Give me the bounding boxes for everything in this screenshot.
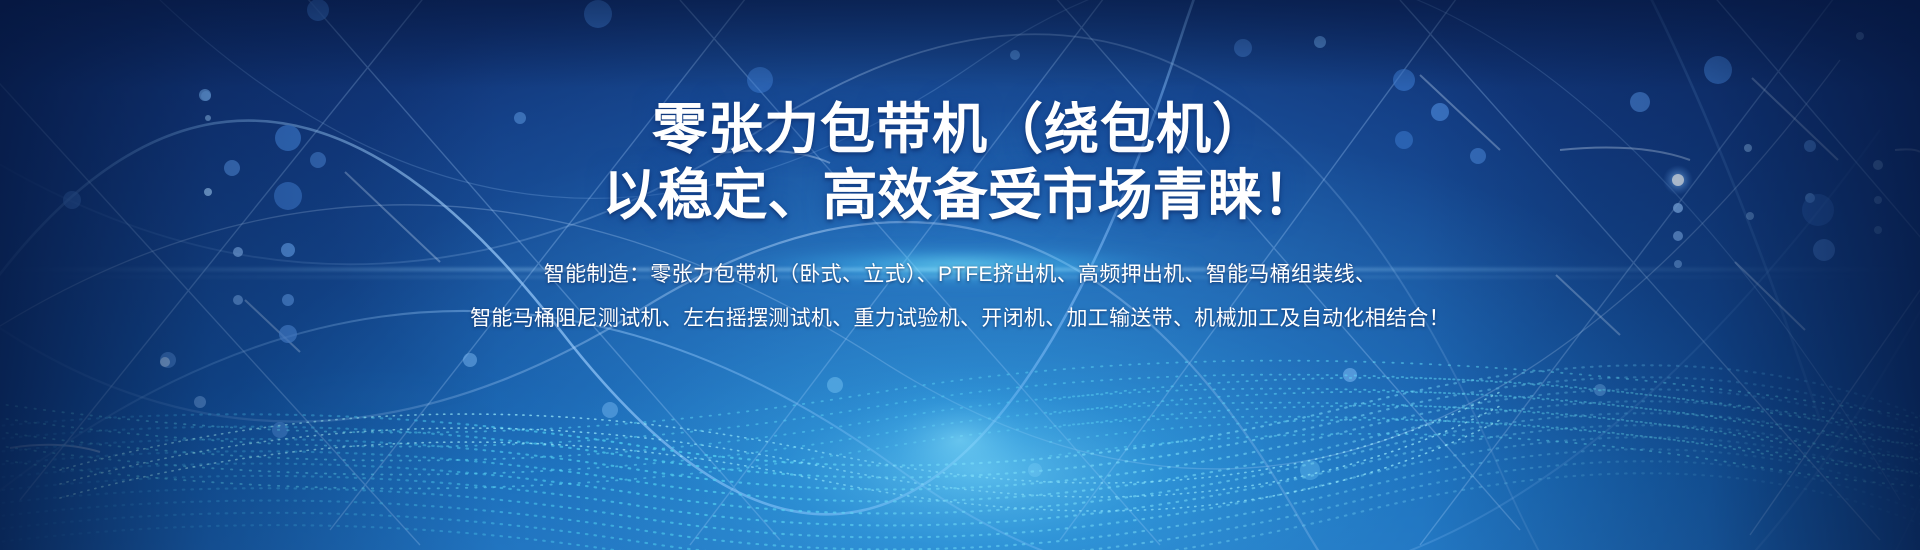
headline-line-2: 以稳定、高效备受市场青睐！ xyxy=(0,162,1920,228)
subtitle-block: 智能制造：零张力包带机（卧式、立式）、PTFE挤出机、高频押出机、智能马桶组装线… xyxy=(0,253,1920,341)
hero-banner: 零张力包带机（绕包机） 以稳定、高效备受市场青睐！ 智能制造：零张力包带机（卧式… xyxy=(0,0,1920,550)
headline-line-1: 零张力包带机（绕包机） xyxy=(0,96,1920,162)
center-glow-core xyxy=(810,350,1110,530)
subtitle-line-2: 智能马桶阻尼测试机、左右摇摆测试机、重力试验机、开闭机、加工输送带、机械加工及自… xyxy=(0,297,1920,341)
headline-block: 零张力包带机（绕包机） 以稳定、高效备受市场青睐！ xyxy=(0,0,1920,228)
subtitle-line-1: 智能制造：零张力包带机（卧式、立式）、PTFE挤出机、高频押出机、智能马桶组装线… xyxy=(0,253,1920,297)
banner-content: 零张力包带机（绕包机） 以稳定、高效备受市场青睐！ 智能制造：零张力包带机（卧式… xyxy=(0,0,1920,341)
